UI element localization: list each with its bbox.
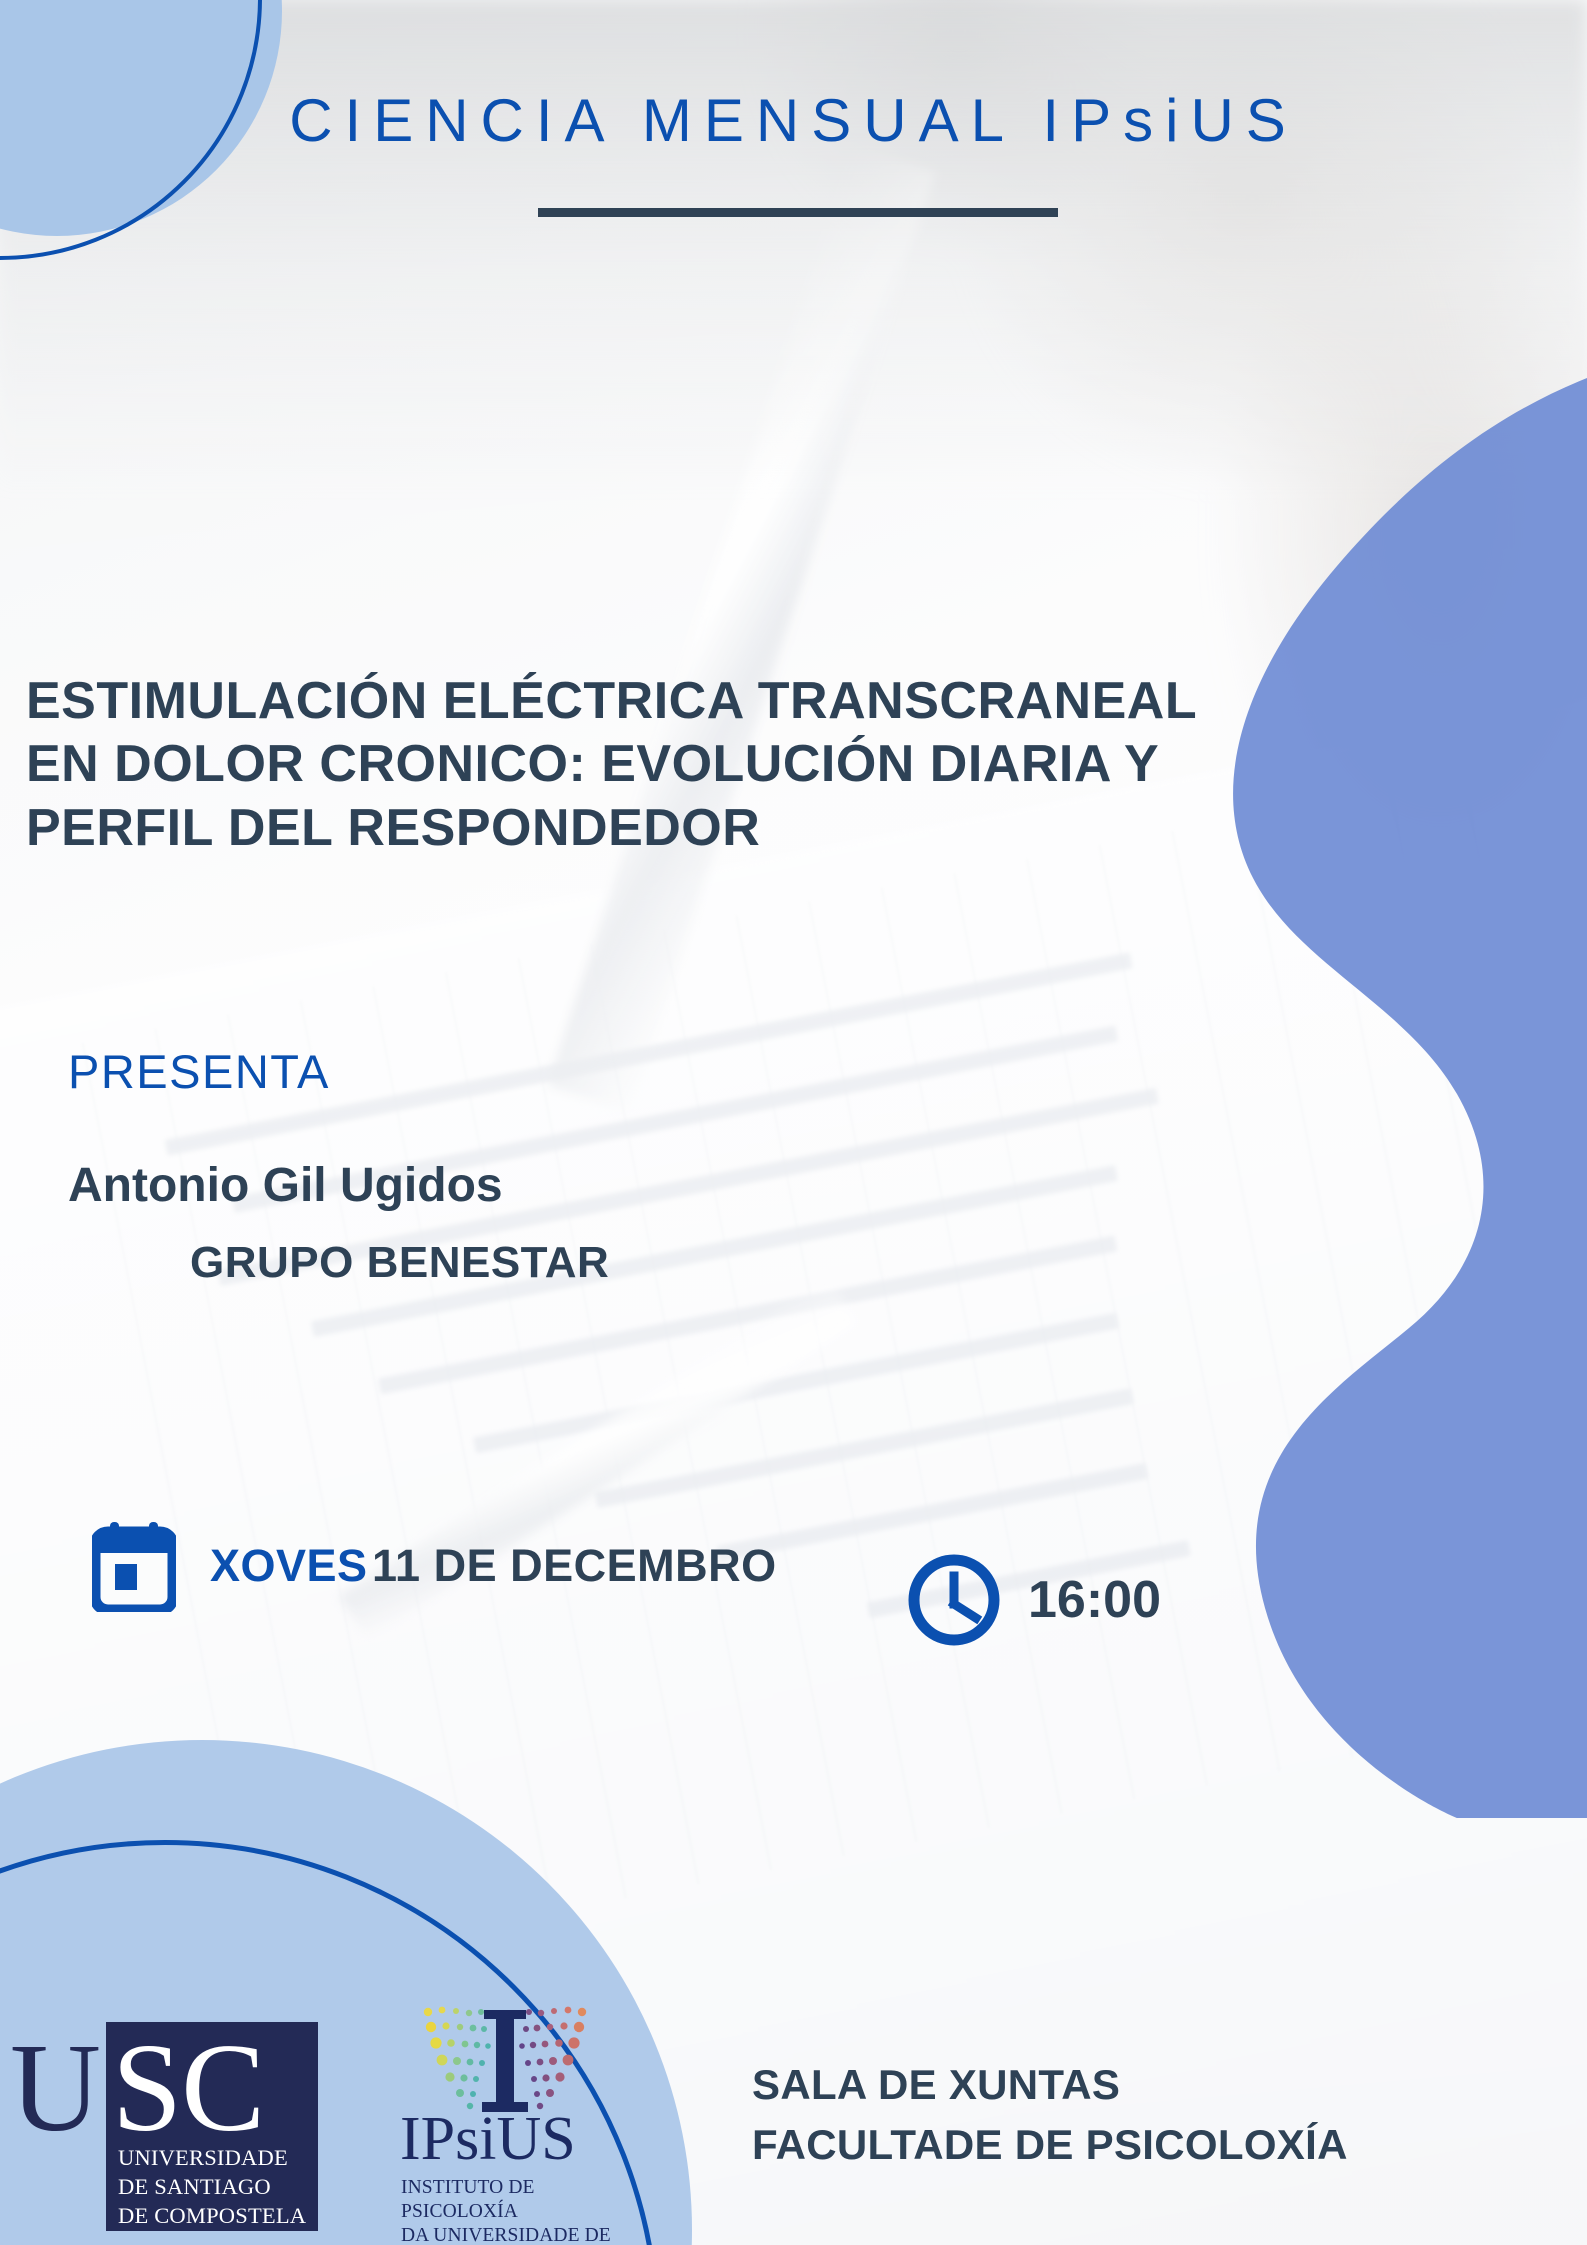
usc-subtitle-line-1: UNIVERSIDADE	[118, 2144, 314, 2173]
poster-canvas: CIENCIA MENSUAL IPsiUS ESTIMULACIÓN ELÉC…	[0, 0, 1587, 2245]
ipsius-dot-matrix-icon	[420, 2004, 590, 2116]
event-time: 16:00	[1028, 1570, 1161, 1630]
ipsius-logo: IPsiUS INSTITUTO DE PSICOLOXÍA DA UNIVER…	[398, 2000, 658, 2245]
usc-subtitle-line-3: DE COMPOSTELA	[118, 2202, 314, 2231]
speaker-name: Antonio Gil Ugidos	[68, 1158, 503, 1213]
clock-icon	[906, 1552, 1002, 1648]
usc-logo-initials-sc: SC	[112, 2026, 264, 2152]
talk-title-line-2: EN DOLOR CRONICO: EVOLUCIÓN DIARIA Y	[26, 733, 1346, 796]
ipsius-wordmark: IPsiUS	[400, 2108, 576, 2170]
talk-title-line-3: PERFIL DEL RESPONDEDOR	[26, 797, 1346, 860]
usc-logo: U SC UNIVERSIDADE DE SANTIAGO DE COMPOST…	[8, 2022, 318, 2245]
ipsius-subtitle-line-2: DA UNIVERSIDADE DE	[401, 2224, 651, 2245]
usc-logo-initial-u: U	[10, 2026, 101, 2152]
event-date: 11 DE DECEMBRO	[372, 1540, 777, 1591]
venue-line-2: FACULTADE DE PSICOLOXÍA	[752, 2115, 1348, 2175]
calendar-icon	[92, 1520, 176, 1612]
ipsius-subtitle: INSTITUTO DE PSICOLOXÍA DA UNIVERSIDADE …	[401, 2176, 651, 2245]
header-divider	[538, 208, 1058, 217]
page-title: CIENCIA MENSUAL IPsiUS	[0, 86, 1587, 155]
ipsius-subtitle-line-1: INSTITUTO DE PSICOLOXÍA	[401, 2176, 651, 2224]
event-date-text: XOVES 11 DE DECEMBRO	[210, 1542, 777, 1589]
talk-title: ESTIMULACIÓN ELÉCTRICA TRANSCRANEAL EN D…	[26, 670, 1346, 860]
speaker-group: GRUPO BENESTAR	[190, 1238, 609, 1288]
venue-line-1: SALA DE XUNTAS	[752, 2055, 1348, 2115]
event-venue: SALA DE XUNTAS FACULTADE DE PSICOLOXÍA	[752, 2055, 1348, 2174]
presenta-label: PRESENTA	[68, 1044, 330, 1099]
usc-logo-subtitle: UNIVERSIDADE DE SANTIAGO DE COMPOSTELA	[118, 2144, 314, 2230]
usc-subtitle-line-2: DE SANTIAGO	[118, 2173, 314, 2202]
event-time-block: 16:00	[906, 1552, 1161, 1648]
event-weekday: XOVES	[210, 1540, 368, 1591]
event-date-block: XOVES 11 DE DECEMBRO	[92, 1520, 777, 1612]
talk-title-line-1: ESTIMULACIÓN ELÉCTRICA TRANSCRANEAL	[26, 670, 1346, 733]
